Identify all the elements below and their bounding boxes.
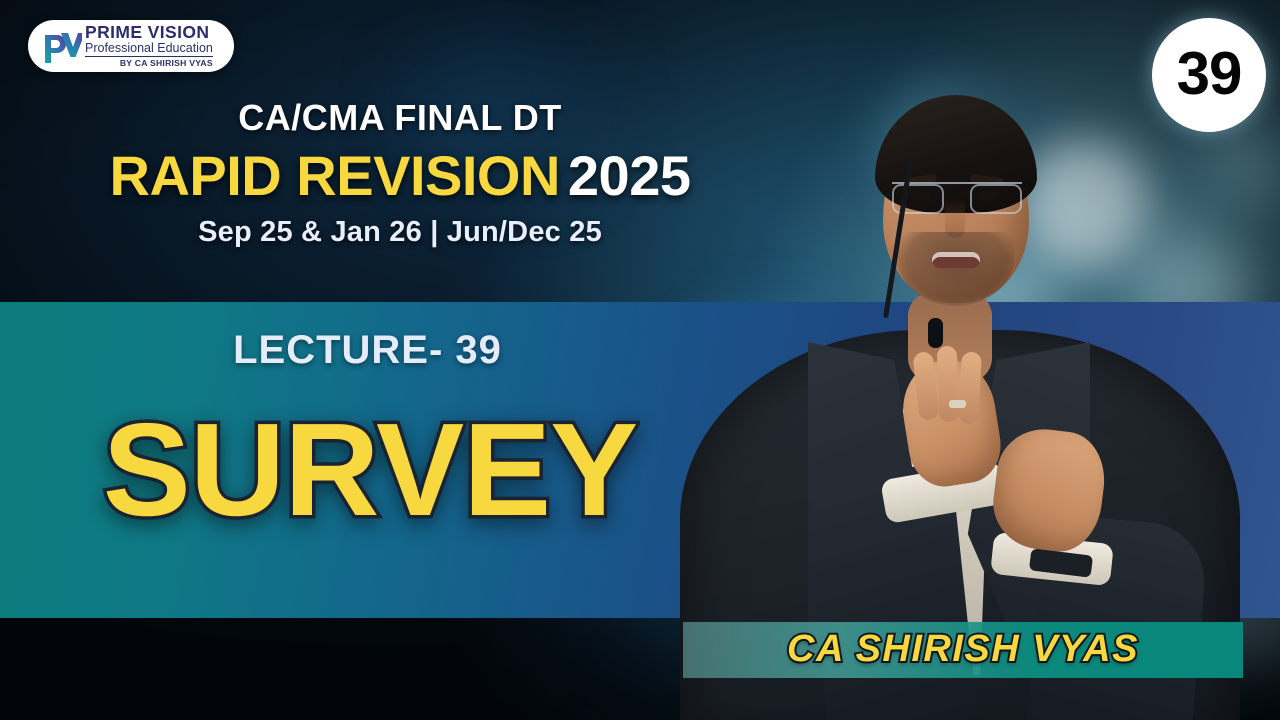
video-thumbnail: PRIME VISION Professional Education BY C… <box>0 0 1280 720</box>
course-title: CA/CMA FINAL DT <box>0 100 800 136</box>
lecture-label: LECTURE- 39 <box>0 330 735 370</box>
brand-byline: BY CA SHIRISH VYAS <box>120 59 213 68</box>
episode-number-badge: 39 <box>1152 18 1266 132</box>
exam-dates: Sep 25 & Jan 26 | Jun/Dec 25 <box>0 218 800 247</box>
program-title-row: RAPID REVISION2025 <box>0 148 800 204</box>
program-year: 2025 <box>568 144 691 207</box>
episode-number: 39 <box>1177 44 1242 104</box>
pv-monogram-icon <box>38 27 82 65</box>
brand-logo-badge[interactable]: PRIME VISION Professional Education BY C… <box>28 20 234 72</box>
headline-block: CA/CMA FINAL DT RAPID REVISION2025 Sep 2… <box>0 100 800 247</box>
brand-tagline: Professional Education <box>85 42 213 57</box>
brand-name: PRIME VISION <box>85 24 209 42</box>
brand-logo-text: PRIME VISION Professional Education BY C… <box>85 24 213 68</box>
program-title: RAPID REVISION <box>110 144 560 207</box>
presenter-name: CA SHIRISH VYAS <box>683 630 1243 668</box>
lecture-topic-title: SURVEY <box>0 404 740 536</box>
